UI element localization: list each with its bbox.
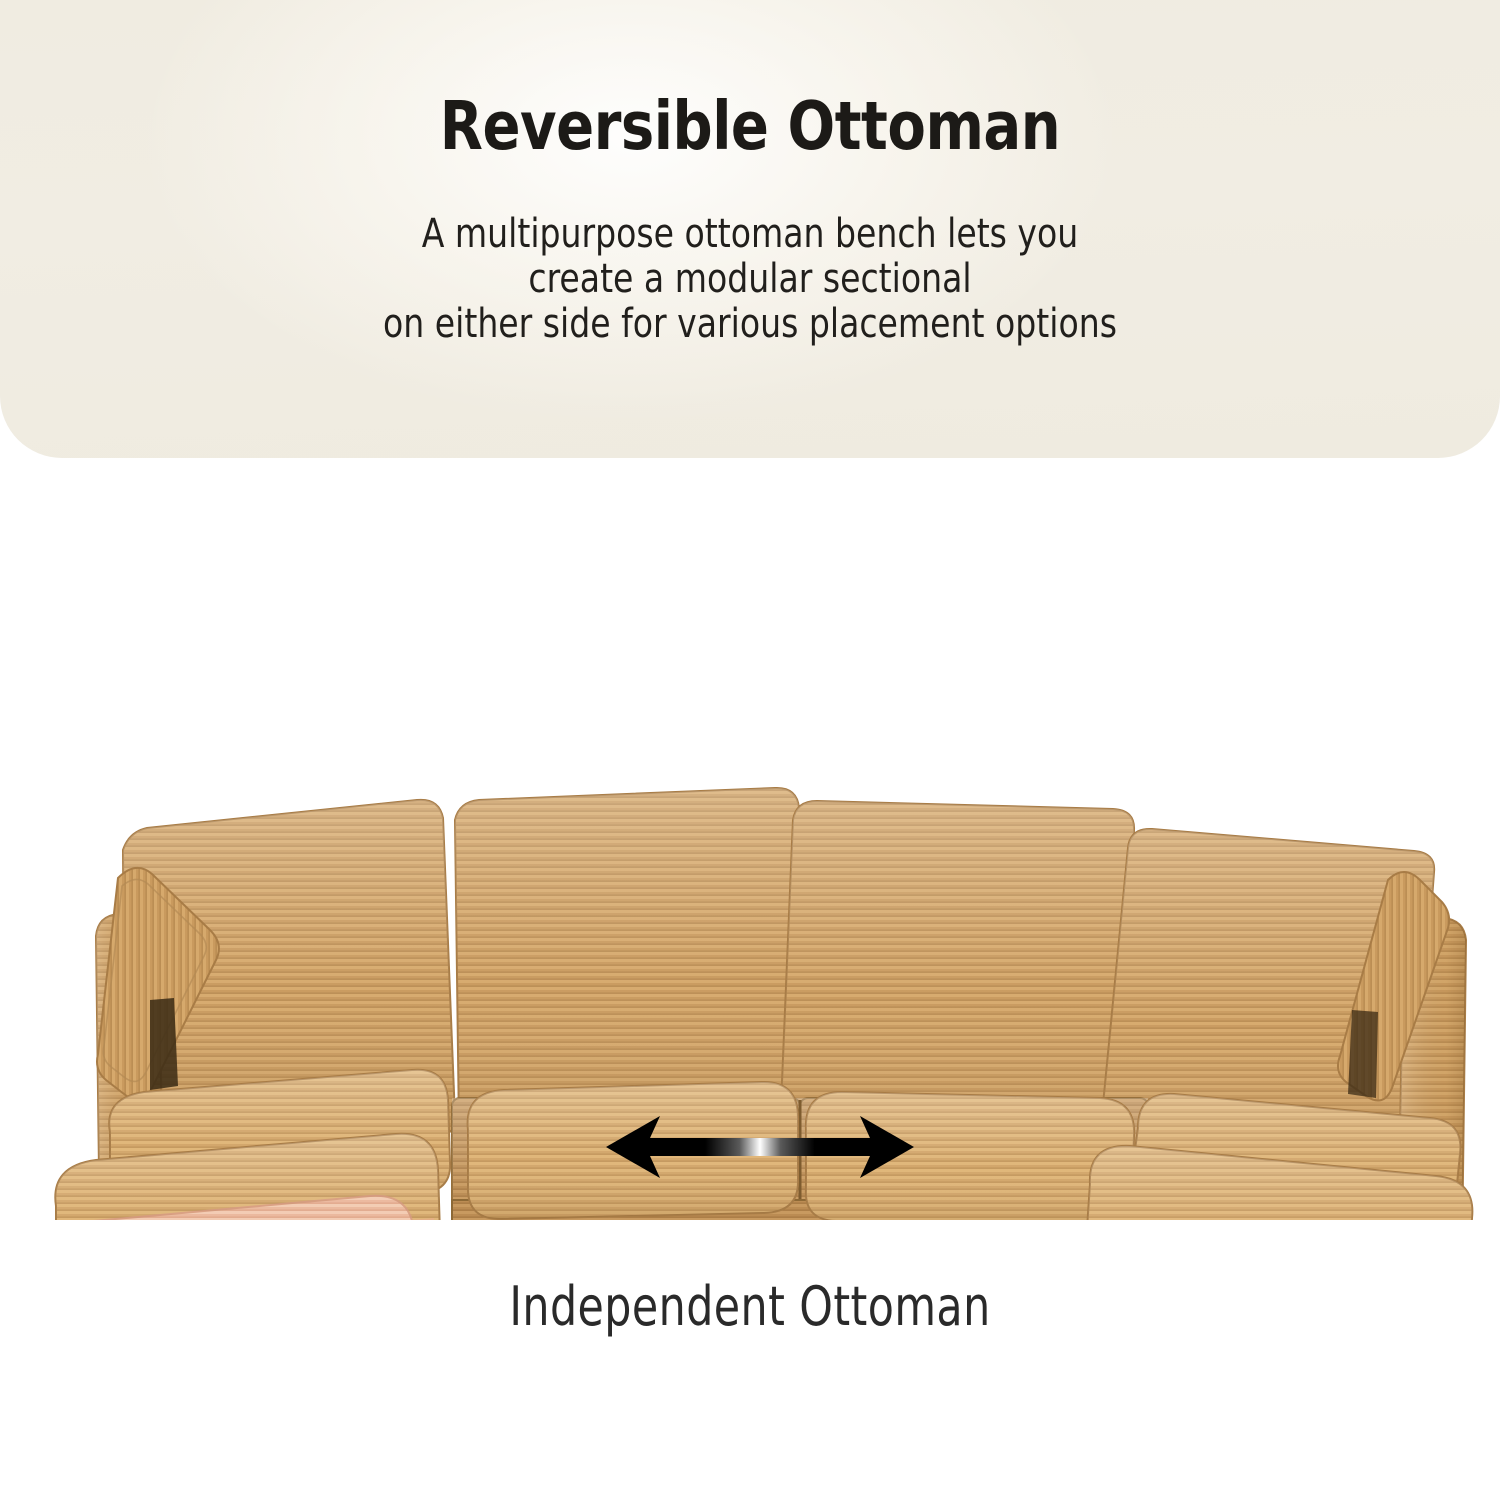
reposition-indicator	[600, 1108, 920, 1198]
double-headed-horizontal-arrow-icon	[600, 1108, 920, 1198]
page-title: Reversible Ottoman	[53, 93, 1448, 160]
product-caption: Independent Ottoman	[90, 1275, 1410, 1338]
subtitle-line-1: A multipurpose ottoman bench lets you	[60, 212, 1440, 257]
product-feature-card: Reversible Ottoman A multipurpose ottoma…	[0, 0, 1500, 1500]
subtitle-line-2: create a modular sectional	[60, 257, 1440, 302]
subtitle-line-3: on either side for various placement opt…	[60, 302, 1440, 347]
page-subtitle: A multipurpose ottoman bench lets you cr…	[60, 212, 1440, 347]
header-panel: Reversible Ottoman A multipurpose ottoma…	[0, 0, 1500, 458]
